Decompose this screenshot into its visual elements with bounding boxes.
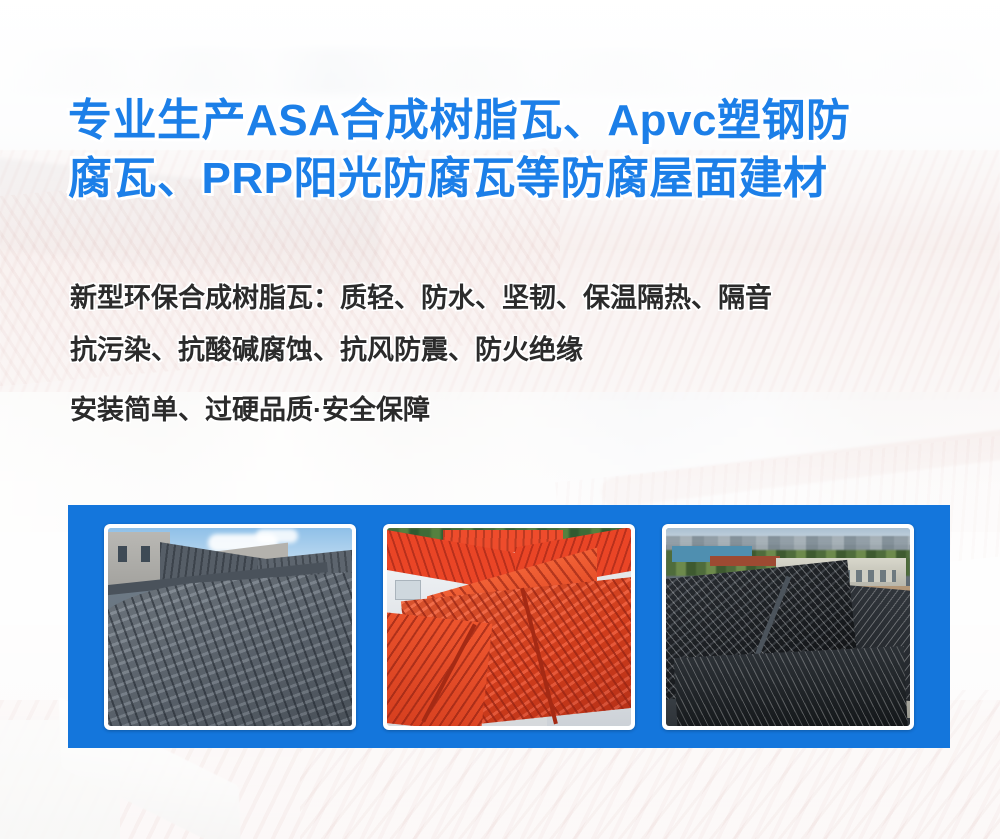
photo1-cloud <box>256 529 298 543</box>
photo-gallery-band <box>68 505 950 748</box>
grey-roof-image <box>108 528 352 726</box>
feature-line-2: 抗污染、抗酸碱腐蚀、抗风防震、防火绝缘 <box>70 324 970 376</box>
gallery-photo-red-roof[interactable] <box>383 524 635 730</box>
photo2-roof-left <box>387 608 492 725</box>
photo3-red-roof <box>710 556 780 566</box>
feature-line-3: 安装简单、过硬品质·安全保障 <box>70 384 970 436</box>
photo1-main-tiled-roof <box>108 569 352 725</box>
feature-list: 新型环保合成树脂瓦：质轻、防水、坚韧、保温隔热、隔音 抗污染、抗酸碱腐蚀、抗风防… <box>70 272 970 436</box>
photo2-window <box>395 580 421 600</box>
photo1-window <box>141 546 150 562</box>
page-title: 专业生产ASA合成树脂瓦、Apvc塑钢防 腐瓦、PRP阳光防腐瓦等防腐屋面建材 <box>68 92 948 208</box>
product-promo-banner: 专业生产ASA合成树脂瓦、Apvc塑钢防 腐瓦、PRP阳光防腐瓦等防腐屋面建材 … <box>0 0 1000 839</box>
gallery-photo-black-roof[interactable] <box>662 524 914 730</box>
gallery-photo-grey-roof[interactable] <box>104 524 356 730</box>
red-roof-image <box>387 528 631 726</box>
photo3-roof-front <box>674 646 908 726</box>
feature-line-1: 新型环保合成树脂瓦：质轻、防水、坚韧、保温隔热、隔音 <box>70 272 970 324</box>
background-roof-ridge <box>600 425 1000 508</box>
photo1-window <box>118 546 127 562</box>
black-roof-image <box>666 528 910 726</box>
background-skyline <box>0 48 1000 94</box>
